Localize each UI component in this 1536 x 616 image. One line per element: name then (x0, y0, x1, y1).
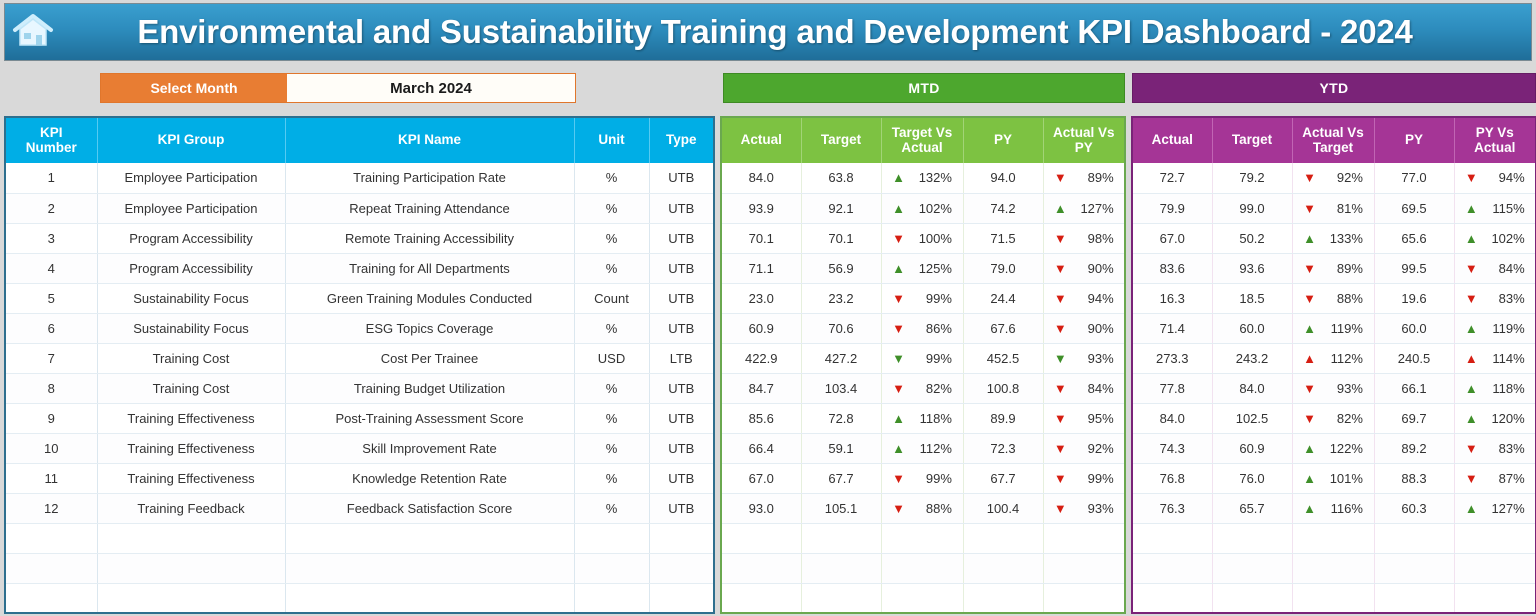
kpi-type-cell: UTB (649, 253, 714, 283)
down-red-arrow-icon: ▼ (892, 502, 905, 515)
table-row[interactable]: 2Employee ParticipationRepeat Training A… (5, 193, 714, 223)
ytd-actual-cell: 71.4 (1132, 313, 1212, 343)
ytd-py-cell: 69.5 (1374, 193, 1454, 223)
ytd-header-1[interactable]: Target (1212, 117, 1292, 163)
ytd-actual-vs-target-cell (1292, 523, 1374, 553)
kpi-type-cell: LTB (649, 343, 714, 373)
ytd-actual-cell: 76.8 (1132, 463, 1212, 493)
kpi-name-cell (285, 553, 574, 583)
kpi-number-cell: 2 (5, 193, 97, 223)
ytd-header-3[interactable]: PY (1374, 117, 1454, 163)
table-row[interactable]: 10Training EffectivenessSkill Improvemen… (5, 433, 714, 463)
kpi-unit-cell: % (574, 433, 649, 463)
mtd-actual-cell: 67.0 (721, 463, 801, 493)
table-row[interactable]: 72.779.2▼92%77.0▼94% (1132, 163, 1536, 193)
table-header-row: ActualTargetTarget VsActualPYActual VsPY (721, 117, 1125, 163)
mtd-header-4[interactable]: Actual VsPY (1043, 117, 1125, 163)
up-green-arrow-icon: ▲ (1465, 322, 1478, 335)
mtd-target-cell: 56.9 (801, 253, 881, 283)
mtd-header-2[interactable]: Target VsActual (881, 117, 963, 163)
table-row[interactable] (5, 553, 714, 583)
mtd-target-cell: 23.2 (801, 283, 881, 313)
kpi-type-cell (649, 553, 714, 583)
table-row[interactable] (1132, 523, 1536, 553)
ytd-target-cell: 243.2 (1212, 343, 1292, 373)
up-green-arrow-icon: ▲ (892, 262, 905, 275)
mtd-actual-cell: 70.1 (721, 223, 801, 253)
mtd-actual-cell (721, 553, 801, 583)
mtd-actual-vs-py-cell: ▼98% (1043, 223, 1125, 253)
mtd-actual-cell: 66.4 (721, 433, 801, 463)
down-red-arrow-icon: ▼ (892, 322, 905, 335)
mtd-target-vs-actual-cell: ▼100% (881, 223, 963, 253)
ytd-py-vs-actual-cell (1454, 553, 1536, 583)
ytd-actual-cell: 77.8 (1132, 373, 1212, 403)
down-green-arrow-icon: ▼ (1054, 352, 1067, 365)
mtd-actual-cell: 60.9 (721, 313, 801, 343)
ytd-actual-cell: 72.7 (1132, 163, 1212, 193)
ytd-actual-vs-target-cell: ▼92% (1292, 163, 1374, 193)
table-row[interactable]: 6Sustainability FocusESG Topics Coverage… (5, 313, 714, 343)
up-green-arrow-icon: ▲ (892, 171, 905, 184)
kpi-group-cell: Employee Participation (97, 193, 285, 223)
down-red-arrow-icon: ▼ (1054, 262, 1067, 275)
ytd-py-vs-actual-cell: ▲119% (1454, 313, 1536, 343)
kpi-unit-cell: % (574, 463, 649, 493)
mtd-py-cell: 79.0 (963, 253, 1043, 283)
mtd-band-label: MTD (723, 73, 1125, 103)
mtd-target-vs-actual-cell: ▲112% (881, 433, 963, 463)
mtd-target-cell (801, 553, 881, 583)
ytd-py-vs-actual-cell: ▲127% (1454, 493, 1536, 523)
kpi-header-3[interactable]: Unit (574, 117, 649, 163)
mtd-target-cell: 59.1 (801, 433, 881, 463)
kpi-type-cell: UTB (649, 283, 714, 313)
kpi-header-2[interactable]: KPI Name (285, 117, 574, 163)
down-red-arrow-icon: ▼ (1054, 171, 1067, 184)
kpi-type-cell: UTB (649, 463, 714, 493)
table-row[interactable]: 66.459.1▲112%72.3▼92% (721, 433, 1125, 463)
kpi-type-cell: UTB (649, 433, 714, 463)
down-red-arrow-icon: ▼ (1054, 472, 1067, 485)
up-green-arrow-icon: ▲ (1303, 322, 1316, 335)
ytd-target-cell: 50.2 (1212, 223, 1292, 253)
kpi-unit-cell: % (574, 223, 649, 253)
mtd-header-3[interactable]: PY (963, 117, 1043, 163)
ytd-py-cell (1374, 523, 1454, 553)
ytd-target-cell: 84.0 (1212, 373, 1292, 403)
ytd-actual-cell (1132, 523, 1212, 553)
mtd-target-vs-actual-cell: ▼86% (881, 313, 963, 343)
table-row[interactable]: 74.360.9▲122%89.2▼83% (1132, 433, 1536, 463)
mtd-actual-cell: 84.7 (721, 373, 801, 403)
table-row[interactable]: 71.156.9▲125%79.0▼90% (721, 253, 1125, 283)
table-row[interactable]: 4Program AccessibilityTraining for All D… (5, 253, 714, 283)
kpi-unit-cell (574, 553, 649, 583)
table-row[interactable]: 84.7103.4▼82%100.8▼84% (721, 373, 1125, 403)
kpi-group-cell: Employee Participation (97, 163, 285, 193)
ytd-band-label: YTD (1132, 73, 1536, 103)
kpi-name-cell: Green Training Modules Conducted (285, 283, 574, 313)
table-row[interactable]: 93.992.1▲102%74.2▲127% (721, 193, 1125, 223)
ytd-actual-vs-target-cell: ▼81% (1292, 193, 1374, 223)
kpi-name-cell: Training for All Departments (285, 253, 574, 283)
mtd-py-cell: 94.0 (963, 163, 1043, 193)
mtd-py-cell: 100.8 (963, 373, 1043, 403)
kpi-unit-cell: % (574, 313, 649, 343)
up-green-arrow-icon: ▲ (1303, 472, 1316, 485)
ytd-actual-vs-target-cell: ▼89% (1292, 253, 1374, 283)
ytd-py-cell: 60.0 (1374, 313, 1454, 343)
kpi-number-cell: 10 (5, 433, 97, 463)
table-row[interactable]: 85.672.8▲118%89.9▼95% (721, 403, 1125, 433)
mtd-actual-cell: 93.0 (721, 493, 801, 523)
kpi-header-0[interactable]: KPINumber (5, 117, 97, 163)
ytd-actual-vs-target-cell: ▼93% (1292, 373, 1374, 403)
ytd-py-cell: 65.6 (1374, 223, 1454, 253)
up-green-arrow-icon: ▲ (892, 442, 905, 455)
mtd-target-vs-actual-cell: ▲125% (881, 253, 963, 283)
mtd-target-vs-actual-cell: ▼88% (881, 493, 963, 523)
kpi-name-cell: Repeat Training Attendance (285, 193, 574, 223)
table-row[interactable]: 76.876.0▲101%88.3▼87% (1132, 463, 1536, 493)
page-title: Environmental and Sustainability Trainin… (5, 13, 1531, 51)
table-row[interactable]: 23.023.2▼99%24.4▼94% (721, 283, 1125, 313)
kpi-type-cell: UTB (649, 403, 714, 433)
mtd-actual-cell (721, 523, 801, 553)
ytd-py-cell: 69.7 (1374, 403, 1454, 433)
table-row[interactable] (5, 583, 714, 613)
table-row[interactable] (721, 583, 1125, 613)
mtd-actual-cell (721, 583, 801, 613)
mtd-py-cell: 100.4 (963, 493, 1043, 523)
ytd-py-vs-actual-cell: ▼83% (1454, 283, 1536, 313)
kpi-number-cell (5, 553, 97, 583)
table-row[interactable]: 79.999.0▼81%69.5▲115% (1132, 193, 1536, 223)
ytd-target-cell: 60.9 (1212, 433, 1292, 463)
mtd-actual-vs-py-cell: ▼90% (1043, 253, 1125, 283)
table-row[interactable]: 5Sustainability FocusGreen Training Modu… (5, 283, 714, 313)
up-red-arrow-icon: ▲ (1465, 352, 1478, 365)
mtd-target-vs-actual-cell: ▲132% (881, 163, 963, 193)
kpi-header-1[interactable]: KPI Group (97, 117, 285, 163)
down-red-arrow-icon: ▼ (892, 292, 905, 305)
mtd-actual-vs-py-cell: ▼93% (1043, 343, 1125, 373)
down-red-arrow-icon: ▼ (1054, 292, 1067, 305)
kpi-group-cell: Sustainability Focus (97, 283, 285, 313)
table-row[interactable]: 67.067.7▼99%67.7▼99% (721, 463, 1125, 493)
mtd-target-vs-actual-cell: ▼99% (881, 343, 963, 373)
mtd-actual-vs-py-cell: ▼94% (1043, 283, 1125, 313)
down-red-arrow-icon: ▼ (1465, 171, 1478, 184)
table-row[interactable]: 3Program AccessibilityRemote Training Ac… (5, 223, 714, 253)
kpi-group-cell: Sustainability Focus (97, 313, 285, 343)
kpi-name-cell: Skill Improvement Rate (285, 433, 574, 463)
ytd-actual-cell: 67.0 (1132, 223, 1212, 253)
ytd-header-0[interactable]: Actual (1132, 117, 1212, 163)
table-row[interactable]: 12Training FeedbackFeedback Satisfaction… (5, 493, 714, 523)
mtd-target-cell: 63.8 (801, 163, 881, 193)
down-red-arrow-icon: ▼ (1303, 292, 1316, 305)
down-red-arrow-icon: ▼ (1054, 322, 1067, 335)
mtd-py-cell (963, 523, 1043, 553)
down-red-arrow-icon: ▼ (1465, 292, 1478, 305)
mtd-target-vs-actual-cell: ▼82% (881, 373, 963, 403)
kpi-tables-region: KPINumberKPI GroupKPI NameUnitType 1Empl… (4, 116, 1532, 613)
mtd-py-cell: 67.7 (963, 463, 1043, 493)
ytd-actual-vs-target-cell: ▲119% (1292, 313, 1374, 343)
mtd-py-cell (963, 553, 1043, 583)
down-red-arrow-icon: ▼ (1054, 382, 1067, 395)
kpi-number-cell (5, 523, 97, 553)
table-row[interactable]: 70.170.1▼100%71.5▼98% (721, 223, 1125, 253)
table-row[interactable]: 1Employee ParticipationTraining Particip… (5, 163, 714, 193)
ytd-target-cell: 65.7 (1212, 493, 1292, 523)
down-red-arrow-icon: ▼ (892, 382, 905, 395)
mtd-header-0[interactable]: Actual (721, 117, 801, 163)
kpi-type-cell: UTB (649, 313, 714, 343)
kpi-group-cell: Training Effectiveness (97, 403, 285, 433)
kpi-group-cell: Program Accessibility (97, 253, 285, 283)
table-row[interactable]: 7Training CostCost Per TraineeUSDLTB (5, 343, 714, 373)
ytd-py-cell (1374, 583, 1454, 613)
mtd-actual-cell: 84.0 (721, 163, 801, 193)
kpi-number-cell: 4 (5, 253, 97, 283)
kpi-number-cell: 5 (5, 283, 97, 313)
ytd-actual-cell: 16.3 (1132, 283, 1212, 313)
mtd-actual-cell: 422.9 (721, 343, 801, 373)
table-row[interactable]: 84.063.8▲132%94.0▼89% (721, 163, 1125, 193)
kpi-name-cell: Training Budget Utilization (285, 373, 574, 403)
down-red-arrow-icon: ▼ (1303, 171, 1316, 184)
mtd-py-cell: 72.3 (963, 433, 1043, 463)
kpi-unit-cell: % (574, 493, 649, 523)
mtd-actual-vs-py-cell: ▼93% (1043, 493, 1125, 523)
kpi-group-cell: Training Effectiveness (97, 463, 285, 493)
down-red-arrow-icon: ▼ (892, 472, 905, 485)
kpi-name-cell: Feedback Satisfaction Score (285, 493, 574, 523)
table-row[interactable]: 60.970.6▼86%67.6▼90% (721, 313, 1125, 343)
ytd-py-cell: 60.3 (1374, 493, 1454, 523)
mtd-actual-vs-py-cell (1043, 553, 1125, 583)
kpi-group-cell (97, 553, 285, 583)
mtd-target-cell: 427.2 (801, 343, 881, 373)
table-row[interactable] (1132, 553, 1536, 583)
mtd-target-vs-actual-cell (881, 553, 963, 583)
mtd-py-cell (963, 583, 1043, 613)
mtd-target-vs-actual-cell (881, 583, 963, 613)
kpi-type-cell: UTB (649, 163, 714, 193)
down-red-arrow-icon: ▼ (1465, 472, 1478, 485)
mtd-py-cell: 24.4 (963, 283, 1043, 313)
table-row[interactable]: 11Training EffectivenessKnowledge Retent… (5, 463, 714, 493)
kpi-number-cell: 3 (5, 223, 97, 253)
table-row[interactable]: 83.693.6▼89%99.5▼84% (1132, 253, 1536, 283)
mtd-py-cell: 74.2 (963, 193, 1043, 223)
down-red-arrow-icon: ▼ (1054, 442, 1067, 455)
selected-month-value[interactable]: March 2024 (287, 74, 575, 102)
table-row[interactable] (5, 523, 714, 553)
kpi-group-cell: Training Cost (97, 373, 285, 403)
mtd-py-cell: 71.5 (963, 223, 1043, 253)
table-row[interactable]: 9Training EffectivenessPost-Training Ass… (5, 403, 714, 433)
table-row[interactable] (721, 553, 1125, 583)
up-green-arrow-icon: ▲ (1303, 232, 1316, 245)
ytd-target-cell: 60.0 (1212, 313, 1292, 343)
ytd-py-vs-actual-cell: ▲102% (1454, 223, 1536, 253)
kpi-type-cell: UTB (649, 193, 714, 223)
table-row[interactable]: 422.9427.2▼99%452.5▼93% (721, 343, 1125, 373)
ytd-py-cell: 66.1 (1374, 373, 1454, 403)
down-red-arrow-icon: ▼ (1303, 382, 1316, 395)
kpi-unit-cell: % (574, 373, 649, 403)
control-strip: Select Month March 2024 MTD YTD (4, 66, 1532, 110)
ytd-actual-cell (1132, 553, 1212, 583)
kpi-group-cell: Training Feedback (97, 493, 285, 523)
month-selector[interactable]: Select Month March 2024 (100, 73, 576, 103)
table-row[interactable]: 16.318.5▼88%19.6▼83% (1132, 283, 1536, 313)
kpi-unit-cell (574, 523, 649, 553)
up-green-arrow-icon: ▲ (1054, 202, 1067, 215)
kpi-type-cell: UTB (649, 373, 714, 403)
up-green-arrow-icon: ▲ (1465, 502, 1478, 515)
mtd-actual-cell: 85.6 (721, 403, 801, 433)
select-month-label: Select Month (101, 74, 287, 102)
ytd-py-vs-actual-cell: ▲114% (1454, 343, 1536, 373)
kpi-number-cell: 7 (5, 343, 97, 373)
table-row[interactable]: 273.3243.2▲112%240.5▲114% (1132, 343, 1536, 373)
kpi-number-cell: 12 (5, 493, 97, 523)
down-red-arrow-icon: ▼ (1465, 262, 1478, 275)
ytd-py-cell: 77.0 (1374, 163, 1454, 193)
kpi-unit-cell: USD (574, 343, 649, 373)
kpi-name-cell: Cost Per Trainee (285, 343, 574, 373)
kpi-type-cell: UTB (649, 493, 714, 523)
table-header-row: KPINumberKPI GroupKPI NameUnitType (5, 117, 714, 163)
ytd-py-vs-actual-cell: ▼94% (1454, 163, 1536, 193)
ytd-actual-vs-target-cell: ▲116% (1292, 493, 1374, 523)
ytd-py-vs-actual-cell: ▲115% (1454, 193, 1536, 223)
table-row[interactable]: 93.0105.1▼88%100.4▼93% (721, 493, 1125, 523)
table-row[interactable]: 8Training CostTraining Budget Utilizatio… (5, 373, 714, 403)
mtd-actual-vs-py-cell: ▼92% (1043, 433, 1125, 463)
ytd-py-cell: 99.5 (1374, 253, 1454, 283)
ytd-py-vs-actual-cell: ▲118% (1454, 373, 1536, 403)
home-icon[interactable] (11, 10, 55, 52)
kpi-number-cell: 6 (5, 313, 97, 343)
mtd-actual-vs-py-cell: ▲127% (1043, 193, 1125, 223)
mtd-target-cell (801, 583, 881, 613)
up-green-arrow-icon: ▲ (1465, 202, 1478, 215)
down-green-arrow-icon: ▼ (892, 352, 905, 365)
mtd-actual-vs-py-cell: ▼90% (1043, 313, 1125, 343)
kpi-group-cell: Program Accessibility (97, 223, 285, 253)
mtd-target-cell: 67.7 (801, 463, 881, 493)
ytd-actual-vs-target-cell: ▲133% (1292, 223, 1374, 253)
kpi-name-cell (285, 583, 574, 613)
mtd-target-cell: 103.4 (801, 373, 881, 403)
down-red-arrow-icon: ▼ (1303, 202, 1316, 215)
ytd-target-cell (1212, 583, 1292, 613)
ytd-py-vs-actual-cell: ▲120% (1454, 403, 1536, 433)
kpi-number-cell (5, 583, 97, 613)
table-row[interactable]: 67.050.2▲133%65.6▲102% (1132, 223, 1536, 253)
ytd-target-cell: 76.0 (1212, 463, 1292, 493)
mtd-target-vs-actual-cell (881, 523, 963, 553)
up-red-arrow-icon: ▲ (1303, 352, 1316, 365)
mtd-actual-vs-py-cell (1043, 583, 1125, 613)
mtd-py-cell: 452.5 (963, 343, 1043, 373)
mtd-actual-vs-py-cell: ▼99% (1043, 463, 1125, 493)
ytd-actual-vs-target-cell (1292, 583, 1374, 613)
mtd-actual-cell: 71.1 (721, 253, 801, 283)
kpi-name-cell: Knowledge Retention Rate (285, 463, 574, 493)
down-red-arrow-icon: ▼ (1054, 412, 1067, 425)
ytd-py-vs-actual-cell (1454, 523, 1536, 553)
ytd-py-cell: 19.6 (1374, 283, 1454, 313)
up-green-arrow-icon: ▲ (892, 202, 905, 215)
table-row[interactable]: 76.365.7▲116%60.3▲127% (1132, 493, 1536, 523)
table-row[interactable] (721, 523, 1125, 553)
table-row[interactable]: 84.0102.5▼82%69.7▲120% (1132, 403, 1536, 433)
kpi-type-cell: UTB (649, 223, 714, 253)
kpi-group-cell (97, 523, 285, 553)
ytd-actual-cell (1132, 583, 1212, 613)
mtd-py-cell: 67.6 (963, 313, 1043, 343)
ytd-target-cell: 93.6 (1212, 253, 1292, 283)
ytd-target-cell: 79.2 (1212, 163, 1292, 193)
ytd-actual-cell: 273.3 (1132, 343, 1212, 373)
kpi-group-cell: Training Cost (97, 343, 285, 373)
ytd-actual-vs-target-cell: ▲101% (1292, 463, 1374, 493)
mtd-header-1[interactable]: Target (801, 117, 881, 163)
table-row[interactable] (1132, 583, 1536, 613)
ytd-py-cell: 240.5 (1374, 343, 1454, 373)
mtd-actual-vs-py-cell (1043, 523, 1125, 553)
ytd-actual-cell: 83.6 (1132, 253, 1212, 283)
kpi-number-cell: 11 (5, 463, 97, 493)
kpi-name-cell: Remote Training Accessibility (285, 223, 574, 253)
ytd-target-cell: 18.5 (1212, 283, 1292, 313)
up-green-arrow-icon: ▲ (1303, 502, 1316, 515)
ytd-actual-vs-target-cell (1292, 553, 1374, 583)
down-red-arrow-icon: ▼ (1303, 262, 1316, 275)
kpi-unit-cell: % (574, 163, 649, 193)
down-red-arrow-icon: ▼ (1054, 232, 1067, 245)
ytd-header-4[interactable]: PY VsActual (1454, 117, 1536, 163)
kpi-number-cell: 8 (5, 373, 97, 403)
ytd-actual-cell: 74.3 (1132, 433, 1212, 463)
up-green-arrow-icon: ▲ (1303, 442, 1316, 455)
kpi-type-cell (649, 523, 714, 553)
ytd-actual-cell: 79.9 (1132, 193, 1212, 223)
mtd-target-cell: 70.1 (801, 223, 881, 253)
ytd-actual-vs-target-cell: ▼88% (1292, 283, 1374, 313)
ytd-header-2[interactable]: Actual VsTarget (1292, 117, 1374, 163)
down-red-arrow-icon: ▼ (1303, 412, 1316, 425)
table-row[interactable]: 77.884.0▼93%66.1▲118% (1132, 373, 1536, 403)
mtd-target-cell (801, 523, 881, 553)
kpi-header-4[interactable]: Type (649, 117, 714, 163)
table-row[interactable]: 71.460.0▲119%60.0▲119% (1132, 313, 1536, 343)
mtd-actual-vs-py-cell: ▼84% (1043, 373, 1125, 403)
dashboard-title-bar: Environmental and Sustainability Trainin… (4, 3, 1532, 61)
kpi-name-cell: Post-Training Assessment Score (285, 403, 574, 433)
kpi-number-cell: 9 (5, 403, 97, 433)
mtd-target-cell: 92.1 (801, 193, 881, 223)
ytd-actual-vs-target-cell: ▲122% (1292, 433, 1374, 463)
up-green-arrow-icon: ▲ (892, 412, 905, 425)
